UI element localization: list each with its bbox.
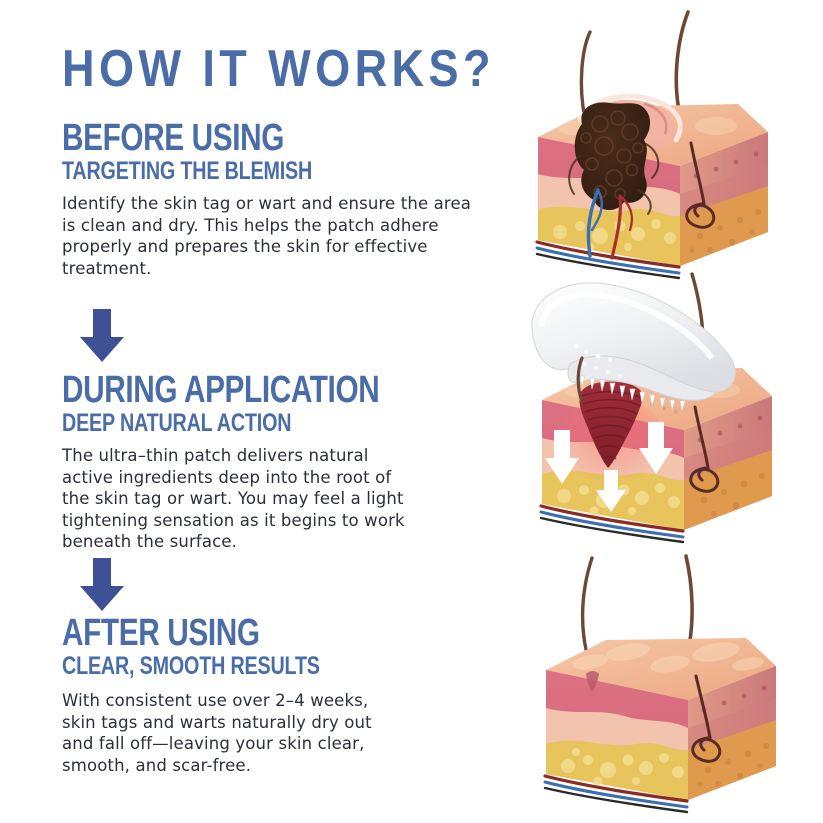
section-heading: BEFORE USING: [62, 118, 442, 156]
section-subheading: TARGETING THE BLEMISH: [62, 159, 447, 184]
section-during-application: DURING APPLICATION DEEP NATURAL ACTION T…: [62, 370, 405, 553]
skin-cross-section-clear-illustration: [520, 552, 823, 823]
down-arrow-icon: [79, 558, 125, 612]
skin-cross-section-with-blemish-illustration: [520, 4, 823, 280]
section-heading: DURING APPLICATION: [62, 370, 381, 408]
section-subheading: DEEP NATURAL ACTION: [62, 411, 384, 436]
page-title: HOW IT WORKS?: [62, 38, 495, 98]
section-subheading: CLEAR, SMOOTH RESULTS: [62, 654, 353, 679]
section-after-using: AFTER USING CLEAR, SMOOTH RESULTS With c…: [62, 613, 372, 776]
section-heading: AFTER USING: [62, 613, 350, 651]
section-before-using: BEFORE USING TARGETING THE BLEMISH Ident…: [62, 118, 471, 279]
down-arrow-icon: [79, 309, 125, 363]
section-body: The ultra–thin patch delivers natural ac…: [62, 445, 405, 553]
section-body: With consistent use over 2–4 weeks, skin…: [62, 690, 372, 776]
section-body: Identify the skin tag or wart and ensure…: [62, 193, 471, 279]
skin-cross-section-with-microneedle-patch-illustration: [520, 272, 823, 554]
how-it-works-infographic: HOW IT WORKS? BEFORE USING TARGETING THE…: [0, 0, 823, 823]
text-column: HOW IT WORKS? BEFORE USING TARGETING THE…: [0, 0, 545, 823]
